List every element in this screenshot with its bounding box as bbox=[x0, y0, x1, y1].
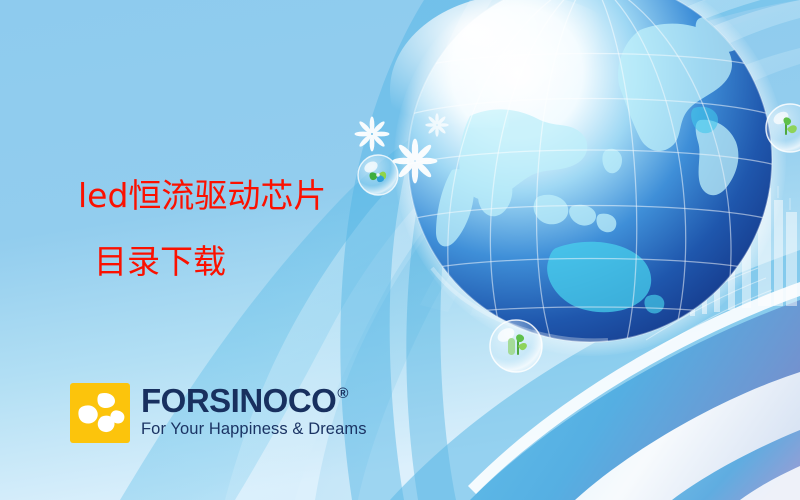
wordmark-text: FORSINOCO bbox=[141, 384, 336, 418]
bubble-pinwheel-icon bbox=[358, 155, 398, 195]
company-logo-lockup[interactable]: FORSINOCO ® For Your Happiness & Dreams bbox=[70, 383, 367, 443]
banner-canvas: led恒流驱动芯片 目录下载 FORSINOCO ® For Your Happ… bbox=[0, 0, 800, 500]
headline-line-2: 目录下载 bbox=[78, 229, 326, 295]
headline-line-1: led恒流驱动芯片 bbox=[78, 163, 326, 229]
bubble-sprout-icon bbox=[490, 320, 542, 372]
pinwheel-petals-icon bbox=[70, 383, 130, 443]
registered-trademark-symbol: ® bbox=[337, 386, 348, 401]
headline-text: led恒流驱动芯片 目录下载 bbox=[78, 163, 326, 295]
bubble-leaf-icon bbox=[766, 104, 800, 152]
logo-text-block: FORSINOCO ® For Your Happiness & Dreams bbox=[141, 383, 367, 439]
logo-tagline: For Your Happiness & Dreams bbox=[141, 420, 367, 439]
wordmark: FORSINOCO ® bbox=[141, 384, 367, 418]
